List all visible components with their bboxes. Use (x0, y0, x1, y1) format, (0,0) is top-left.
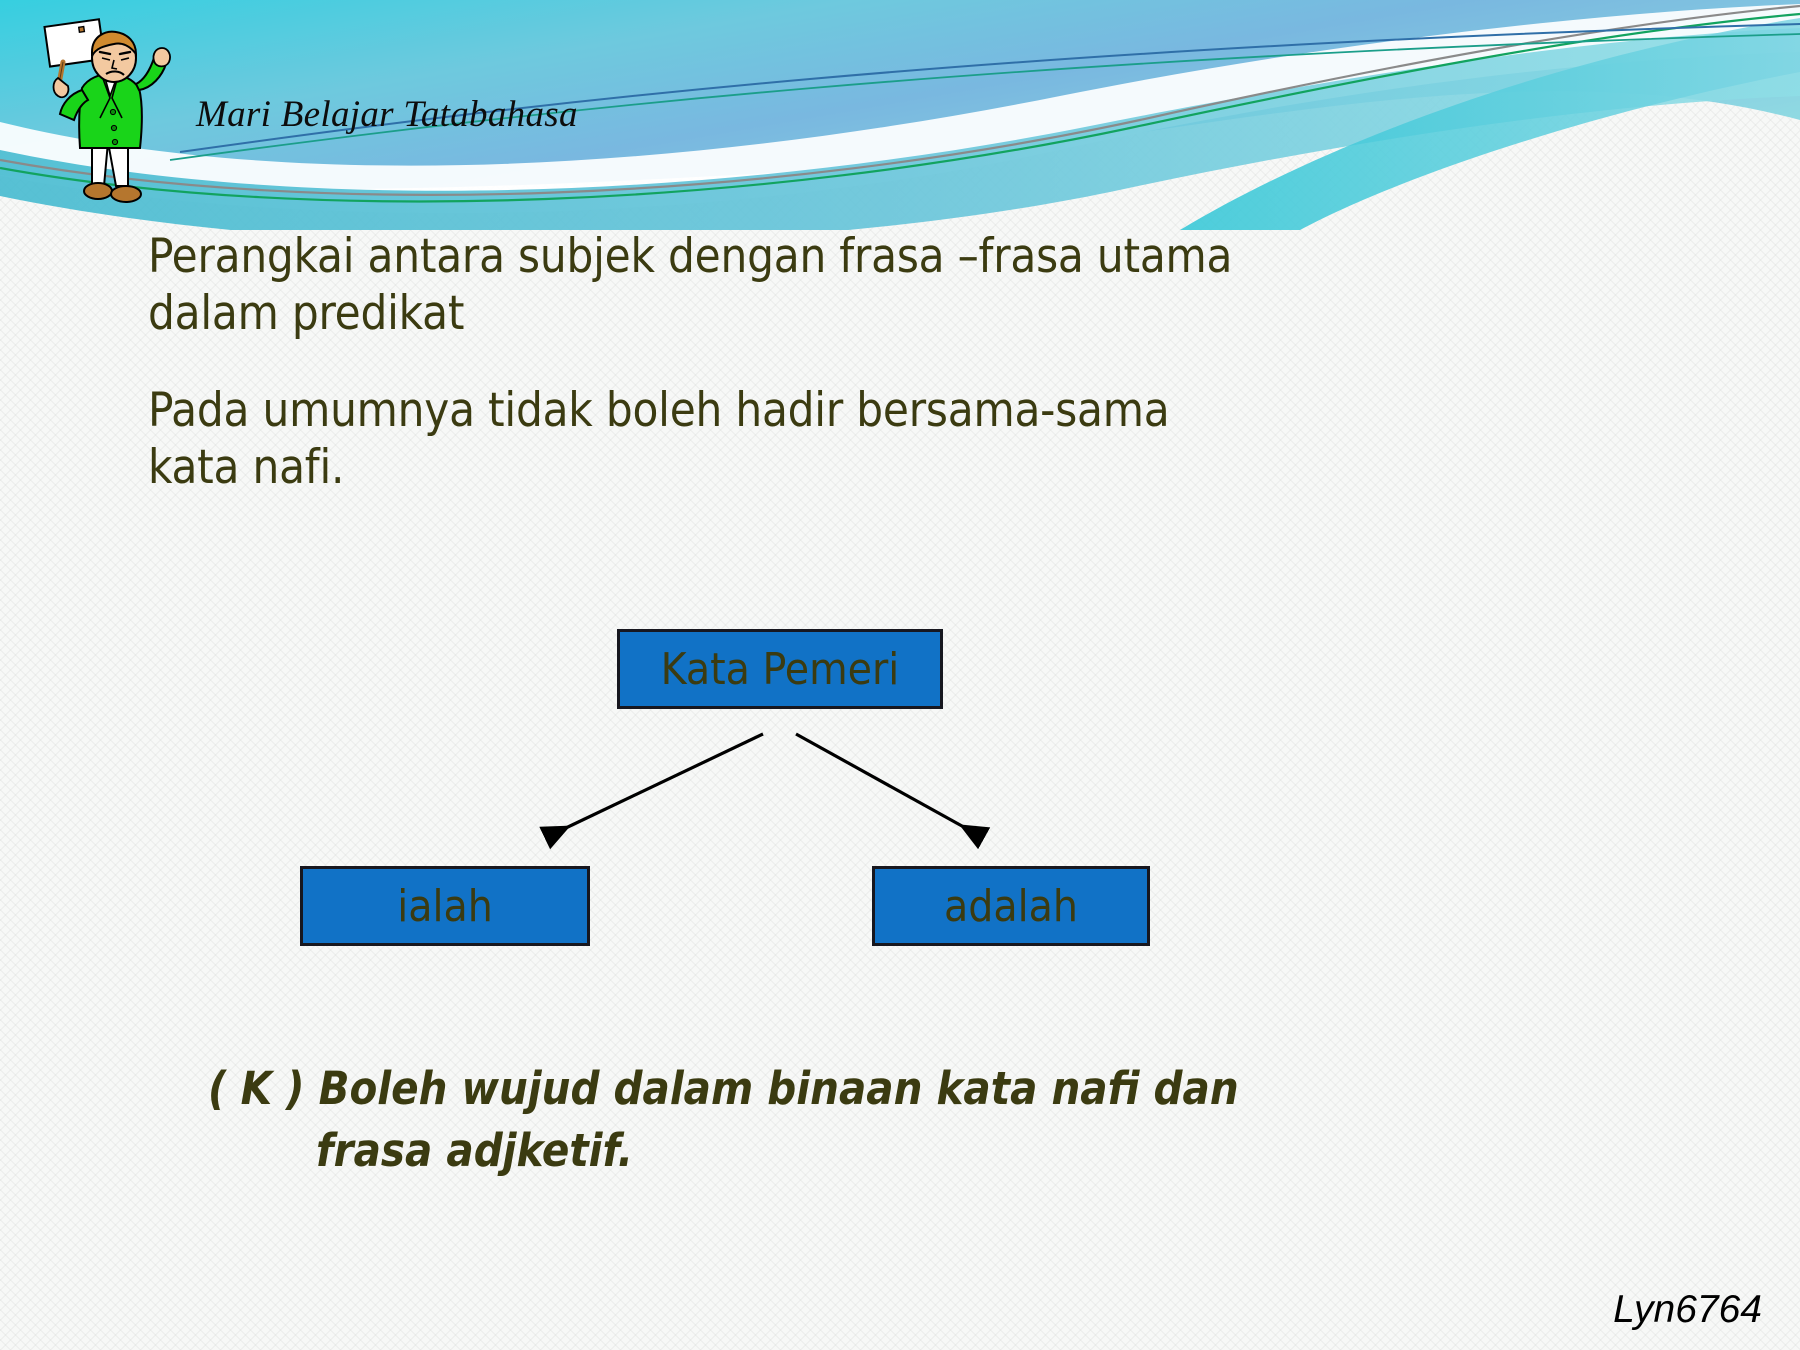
diagram-box-ialah[interactable]: ialah (300, 866, 590, 946)
diagram-box-kata-pemeri[interactable]: Kata Pemeri (617, 629, 943, 709)
footnote-block: ( K ) Boleh wujud dalam binaan kata nafi… (208, 1058, 1308, 1182)
footnote-line-1: ( K ) Boleh wujud dalam binaan kata nafi… (208, 1062, 1239, 1115)
diagram-box-adalah-label: adalah (944, 881, 1078, 932)
body-paragraph-1: Perangkai antara subjek dengan frasa –fr… (148, 228, 1248, 342)
author-signature: Lyn6764 (1613, 1288, 1762, 1332)
slide-header-title: Mari Belajar Tatabahasa (196, 93, 578, 136)
diagram-box-ialah-label: ialah (397, 881, 493, 932)
footnote-line-2: frasa adjketif. (208, 1120, 1308, 1182)
slide-canvas: Mari Belajar Tatabahasa Perangkai antara… (0, 0, 1800, 1350)
body-paragraph-2: Pada umumnya tidak boleh hadir bersama-s… (148, 382, 1198, 496)
diagram-box-adalah[interactable]: adalah (872, 866, 1150, 946)
connector-right (796, 734, 980, 836)
cartoon-man-icon (22, 8, 202, 208)
connector-left (549, 734, 763, 836)
diagram-box-kata-pemeri-label: Kata Pemeri (661, 644, 900, 695)
